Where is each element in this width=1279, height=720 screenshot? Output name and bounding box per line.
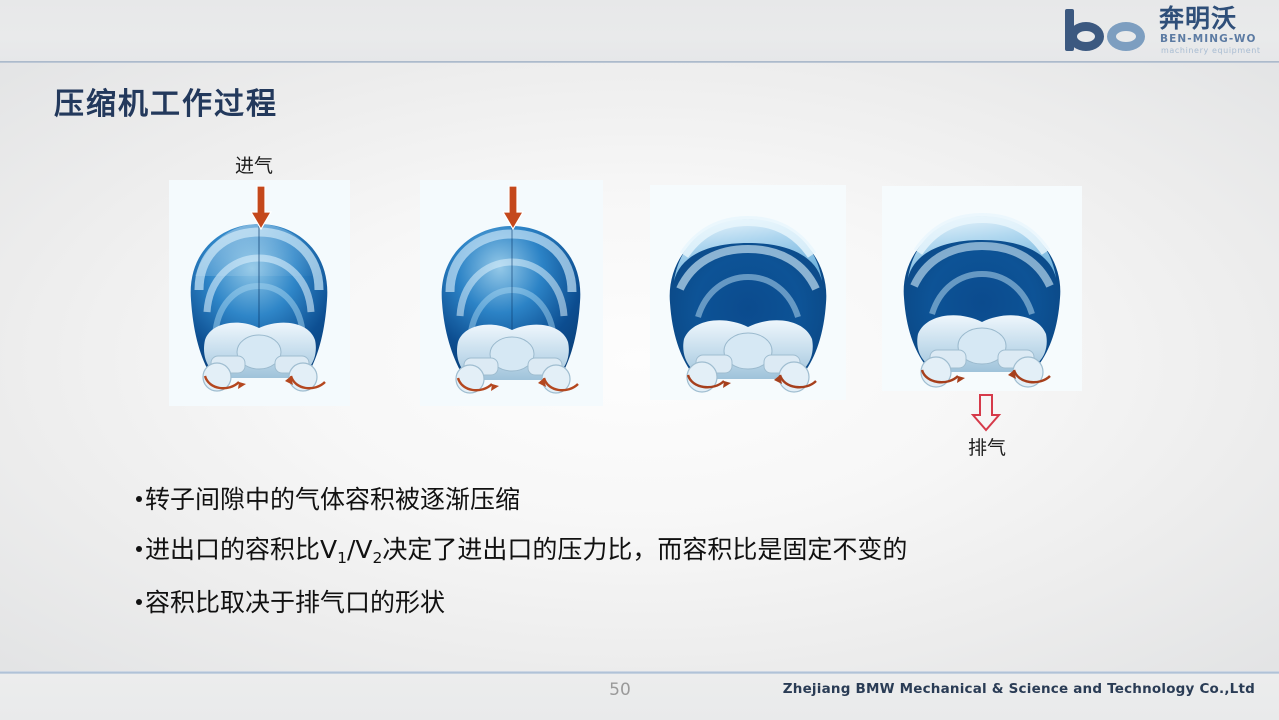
rotor-panel-stage-1 xyxy=(169,180,350,406)
bullet-text-2-pre: 进出口的容积比 xyxy=(145,535,320,564)
bullet-text-3: 容积比取决于排气口的形状 xyxy=(145,588,445,617)
volume-ratio-v1: V xyxy=(320,535,337,564)
bo-monogram-icon xyxy=(1063,9,1155,51)
logo-b-bowl xyxy=(1068,22,1104,51)
bullet-text-1: 转子间隙中的气体容积被逐渐压缩 xyxy=(145,485,520,514)
page-number: 50 xyxy=(600,680,640,700)
arrow-down-solid-icon-2 xyxy=(502,186,524,230)
bullet-item-1: 转子间隙中的气体容积被逐渐压缩 xyxy=(136,475,1196,525)
arrow-down-outline-icon xyxy=(966,394,1006,432)
rotor-panel-stage-4 xyxy=(882,186,1082,391)
logo-letter-b xyxy=(1065,9,1105,51)
volume-ratio-sub2: 2 xyxy=(373,549,383,567)
bullet-list: 转子间隙中的气体容积被逐渐压缩 进出口的容积比V1/V2决定了进出口的压力比，而… xyxy=(136,475,1196,628)
logo-tagline: machinery equipment xyxy=(1161,46,1261,55)
slide: 奔明沃 BEN-MING-WO machinery equipment 压缩机工… xyxy=(0,0,1279,720)
logo-letter-o xyxy=(1107,22,1145,51)
logo-english-name: BEN-MING-WO xyxy=(1160,33,1257,45)
volume-ratio-sub1: 1 xyxy=(337,549,347,567)
rotor-panel-stage-2 xyxy=(420,180,603,406)
intake-label: 进气 xyxy=(235,151,273,178)
bullet-text-2-post: 决定了进出口的压力比，而容积比是固定不变的 xyxy=(382,535,907,564)
arrow-down-solid-icon-1 xyxy=(250,186,272,230)
bullet-item-2: 进出口的容积比V1/V2决定了进出口的压力比，而容积比是固定不变的 xyxy=(136,525,1196,578)
page-title: 压缩机工作过程 xyxy=(54,79,278,123)
bullet-item-3: 容积比取决于排气口的形状 xyxy=(136,578,1196,628)
logo-chinese-name: 奔明沃 xyxy=(1159,5,1237,33)
company-logo: 奔明沃 BEN-MING-WO machinery equipment xyxy=(1063,4,1265,58)
bullet-marker-icon xyxy=(136,496,142,502)
header-divider xyxy=(0,61,1279,63)
exhaust-label: 排气 xyxy=(968,433,1006,460)
bullet-marker-icon xyxy=(136,599,142,605)
volume-ratio-slash: /V xyxy=(347,535,373,564)
rotor-panel-stage-3 xyxy=(650,185,846,400)
company-name: Zhejiang BMW Mechanical & Science and Te… xyxy=(783,681,1255,697)
bullet-marker-icon xyxy=(136,546,142,552)
